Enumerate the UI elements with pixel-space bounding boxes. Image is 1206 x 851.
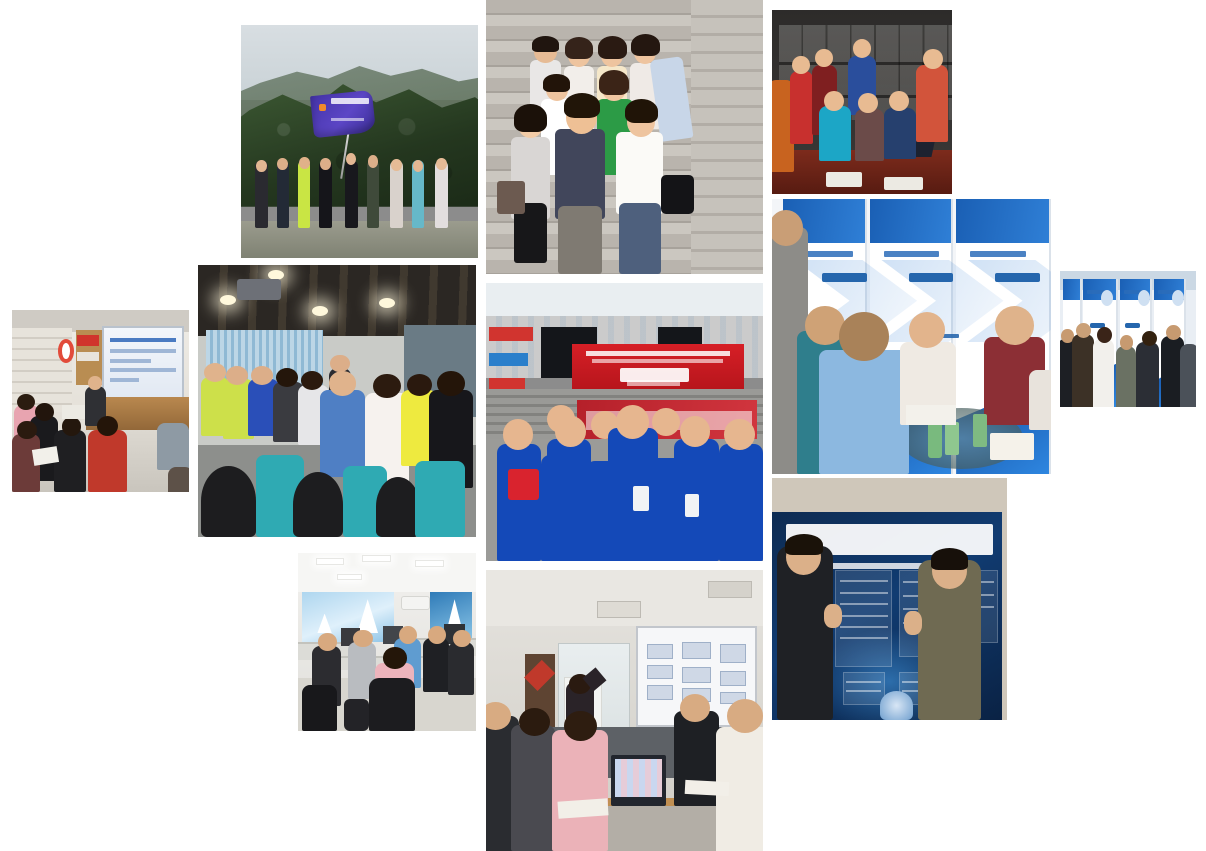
laptop bbox=[611, 755, 666, 806]
flag-logo-icon bbox=[319, 104, 326, 111]
booth-slogan-text bbox=[884, 251, 940, 257]
fair-banner-cn-text bbox=[586, 351, 730, 356]
photo-exhibition-booth-consultation[interactable] bbox=[772, 199, 1051, 474]
photo-china-hi-tech-fair-team[interactable] bbox=[486, 283, 763, 561]
company-flag bbox=[310, 89, 376, 137]
photo-training-session-projector[interactable] bbox=[12, 310, 189, 492]
photo-team-meeting-product-shelves[interactable] bbox=[772, 10, 952, 194]
photo-team-outing-mountain-flag[interactable] bbox=[241, 25, 478, 258]
photo-collage bbox=[0, 0, 1206, 851]
photo-seminar-audience-teal-chairs[interactable] bbox=[198, 265, 476, 537]
flag-title-text bbox=[331, 98, 369, 104]
photo-group-photo-on-stairs[interactable] bbox=[486, 0, 763, 274]
photo-meeting-room-whiteboard-presentation[interactable] bbox=[486, 570, 763, 851]
thumbs-up-gesture bbox=[904, 611, 923, 635]
lifebuoy-decor-icon bbox=[58, 339, 74, 363]
fair-welcome-banner bbox=[572, 344, 744, 394]
thumbs-up-gesture bbox=[824, 604, 843, 628]
photo-cross-border-ecommerce-banner[interactable] bbox=[772, 478, 1007, 720]
photo-exhibition-booth-crowd[interactable] bbox=[1060, 271, 1196, 407]
photo-office-desk-group-discussion[interactable] bbox=[298, 553, 476, 731]
projector-screen bbox=[102, 326, 183, 399]
fair-banner-en-text bbox=[592, 359, 723, 363]
floor-display-object bbox=[880, 691, 913, 720]
booth-slogan-text bbox=[970, 251, 1026, 257]
flag-url-text bbox=[331, 118, 364, 121]
air-conditioner bbox=[401, 596, 429, 610]
fair-welcome-en-text bbox=[627, 380, 680, 386]
